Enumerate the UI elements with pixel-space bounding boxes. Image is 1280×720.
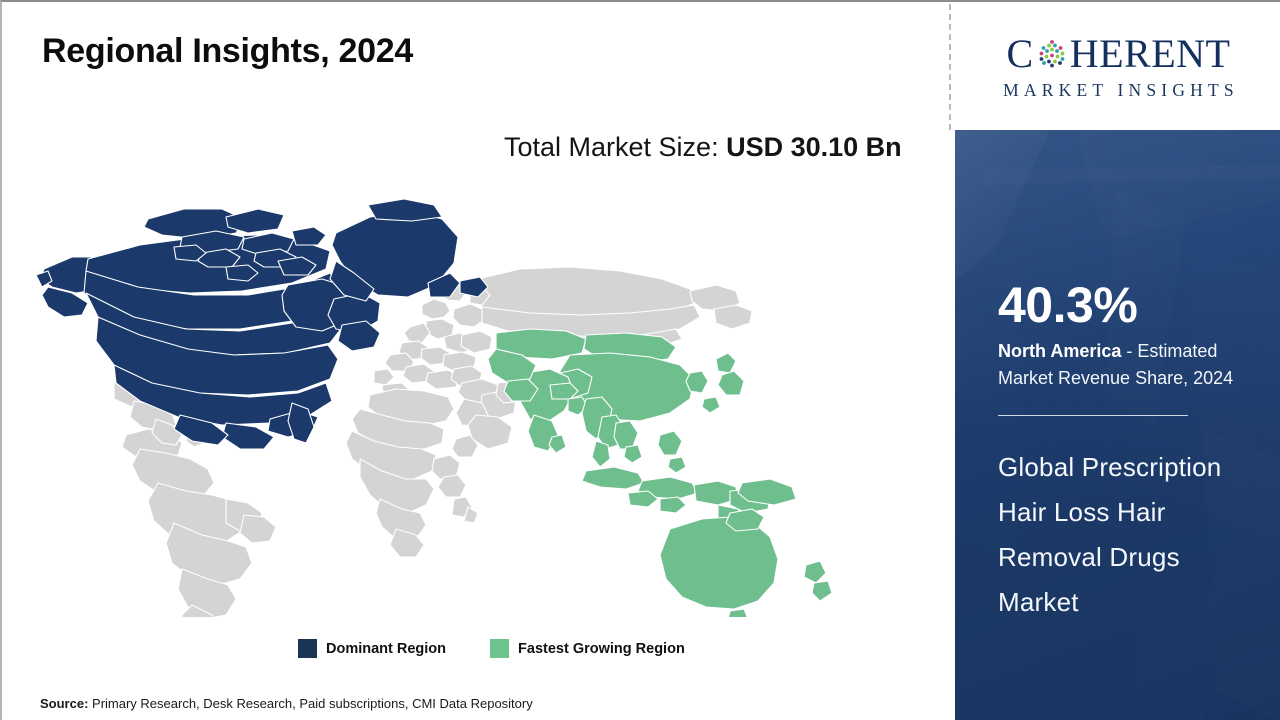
legend-item-fastest-growing: Fastest Growing Region bbox=[490, 639, 685, 658]
regional-insights-infographic: Regional Insights, 2024 Total Market Siz… bbox=[0, 0, 1280, 720]
vertical-dashed-divider bbox=[949, 4, 951, 130]
market-size-value: USD 30.10 Bn bbox=[726, 132, 902, 162]
total-market-size: Total Market Size: USD 30.10 Bn bbox=[504, 128, 924, 166]
panel-divider-rule bbox=[998, 415, 1188, 416]
globe-dots-icon bbox=[1035, 37, 1069, 71]
map-region-south-america bbox=[122, 429, 276, 617]
map-region-asia-pacific bbox=[488, 329, 832, 617]
share-description: North America - Estimated Market Revenue… bbox=[998, 338, 1266, 393]
market-size-label: Total Market Size: bbox=[504, 132, 726, 162]
legend-label-dominant: Dominant Region bbox=[326, 641, 446, 657]
company-logo: CHERENT MARKET INSIGHTS bbox=[955, 4, 1280, 130]
legend-swatch-dominant bbox=[298, 639, 317, 658]
legend-swatch-fastest-growing bbox=[490, 639, 509, 658]
market-report-title: Global Prescription Hair Loss Hair Remov… bbox=[998, 445, 1260, 625]
logo-text-herent: HERENT bbox=[1070, 34, 1231, 74]
share-percentage: 40.3% bbox=[998, 280, 1137, 330]
legend-item-dominant: Dominant Region bbox=[298, 639, 446, 658]
logo-letter-c: C bbox=[1007, 34, 1034, 74]
regional-stat-panel: 40.3% North America - Estimated Market R… bbox=[955, 130, 1280, 720]
source-text: Primary Research, Desk Research, Paid su… bbox=[88, 696, 532, 711]
source-line: Source: Primary Research, Desk Research,… bbox=[40, 696, 533, 711]
share-region-name: North America bbox=[998, 341, 1121, 361]
world-map-svg bbox=[30, 187, 850, 617]
logo-wordmark: CHERENT bbox=[1007, 34, 1231, 74]
page-title: Regional Insights, 2024 bbox=[42, 32, 413, 71]
left-content-area: Regional Insights, 2024 Total Market Siz… bbox=[2, 2, 950, 720]
map-legend: Dominant Region Fastest Growing Region bbox=[298, 639, 685, 658]
source-label: Source: bbox=[40, 696, 88, 711]
panel-content: 40.3% North America - Estimated Market R… bbox=[998, 130, 1264, 720]
logo-tagline: MARKET INSIGHTS bbox=[998, 80, 1239, 101]
world-map bbox=[30, 187, 850, 617]
legend-label-fastest-growing: Fastest Growing Region bbox=[518, 641, 685, 657]
